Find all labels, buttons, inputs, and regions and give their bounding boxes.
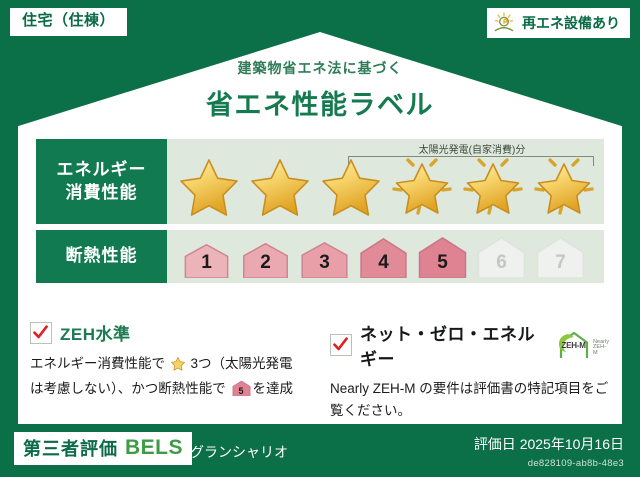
- housing-type-chip: 住宅（住棟）: [10, 8, 127, 36]
- energy-label-line1: エネルギー: [57, 159, 147, 182]
- insulation-level-number: 2: [238, 252, 293, 274]
- zeh-criterion-title: ZEH水準: [60, 320, 131, 345]
- insulation-level-4: 4: [356, 236, 411, 278]
- insulation-label-text: 断熱性能: [66, 245, 138, 268]
- star-icon: [246, 151, 314, 217]
- insulation-level-5: 5: [415, 235, 470, 278]
- energy-label-line2: 消費性能: [66, 182, 138, 205]
- insulation-badge-icon: 5: [231, 380, 252, 396]
- star-solar-icon: [530, 151, 598, 217]
- nze-checkbox[interactable]: [330, 334, 352, 356]
- label-title-block: 建築物省エネ法に基づく 省エネ性能ラベル: [0, 58, 640, 122]
- insulation-performance-label: 断熱性能: [36, 230, 167, 283]
- insulation-scale-area: 1 2 3: [167, 230, 604, 283]
- insulation-level-3: 3: [297, 240, 352, 278]
- zeh-criterion-description: エネルギー消費性能で 3つ（太陽光発電 は考慮しない）、かつ断熱性能で 5 を達…: [30, 353, 310, 400]
- zeh-m-logo: ZEH-M Nearly ZEH-M: [555, 330, 610, 360]
- insulation-level-number: 3: [297, 252, 352, 274]
- energy-performance-label: エネルギー 消費性能: [36, 139, 167, 224]
- building-name: グランシャリオ: [190, 442, 288, 462]
- zeh-m-logo-sub2: ZEH-M: [593, 345, 610, 357]
- insulation-level-2: 2: [238, 241, 293, 278]
- energy-performance-label: 住宅（住棟） 再エネ設備あり 建築物省エネ法に基づく 省エネ性能ラベル: [0, 0, 640, 477]
- insulation-badge-number: 5: [231, 387, 252, 396]
- bels-badge: 第三者評価 BELS: [14, 432, 192, 465]
- energy-stars-area: 太陽光発電(自家消費)分: [167, 139, 604, 224]
- renewable-badge-text: 再エネ設備あり: [522, 13, 620, 33]
- label-footer: 第三者評価 BELS グランシャリオ 評価日 2025年10月16日 de828…: [0, 429, 640, 477]
- label-title: 省エネ性能ラベル: [0, 83, 640, 122]
- insulation-level-number: 4: [356, 252, 411, 274]
- insulation-level-1: 1: [179, 242, 234, 278]
- star-rating: [167, 151, 598, 217]
- zeh-m-logo-text: ZEH-M: [555, 341, 592, 350]
- insulation-level-6: 6: [474, 235, 529, 278]
- evaluation-id: de828109-ab8b-48e3: [528, 458, 624, 469]
- sun-solar-icon: [493, 12, 517, 34]
- zeh-criterion: ZEH水準 エネルギー消費性能で 3つ（太陽光発電 は考慮しない）、かつ断熱性能…: [30, 320, 310, 422]
- metrics-section: エネルギー 消費性能 太陽光発電(自家消費)分: [36, 139, 604, 289]
- nze-criterion: ネット・ゼロ・エネルギー ZEH-M Nearly ZEH-M N: [330, 320, 610, 422]
- zeh-desc-star-count: 3つ（太陽光発電: [191, 356, 293, 371]
- star-icon: [170, 359, 190, 374]
- energy-performance-row: エネルギー 消費性能 太陽光発電(自家消費)分: [36, 139, 604, 224]
- nze-criterion-header: ネット・ゼロ・エネルギー ZEH-M Nearly ZEH-M: [330, 320, 610, 370]
- star-solar-icon: [388, 151, 456, 217]
- zeh-checkbox[interactable]: [30, 322, 52, 344]
- nze-criterion-description: Nearly ZEH-M の要件は評価書の特記項目をご覧ください。: [330, 378, 610, 422]
- zeh-desc-part2: は考慮しない）、かつ断熱性能で: [30, 381, 226, 396]
- insulation-level-number: 1: [179, 252, 234, 274]
- criteria-section: ZEH水準 エネルギー消費性能で 3つ（太陽光発電 は考慮しない）、かつ断熱性能…: [30, 320, 610, 422]
- nze-criterion-title: ネット・ゼロ・エネルギー: [360, 320, 543, 370]
- zeh-criterion-header: ZEH水準: [30, 320, 310, 345]
- zeh-desc-part3: を達成: [253, 381, 294, 396]
- insulation-level-number: 6: [474, 252, 529, 274]
- bels-jp-text: 第三者評価: [23, 435, 118, 461]
- insulation-level-number: 5: [415, 252, 470, 274]
- star-solar-icon: [459, 151, 527, 217]
- zeh-desc-part1: エネルギー消費性能で: [30, 356, 165, 371]
- renewable-equipment-chip: 再エネ設備あり: [487, 8, 630, 38]
- label-subtitle: 建築物省エネ法に基づく: [0, 58, 640, 78]
- insulation-level-7: 7: [533, 235, 588, 278]
- bels-en-text: BELS: [125, 436, 183, 460]
- star-icon: [317, 151, 385, 217]
- star-icon: [175, 151, 243, 217]
- insulation-level-number: 7: [533, 252, 588, 274]
- evaluation-date: 評価日 2025年10月16日: [474, 434, 624, 454]
- housing-type-text: 住宅（住棟）: [22, 12, 115, 29]
- insulation-performance-row: 断熱性能 1 2: [36, 230, 604, 283]
- insulation-level-scale: 1 2 3: [167, 235, 588, 278]
